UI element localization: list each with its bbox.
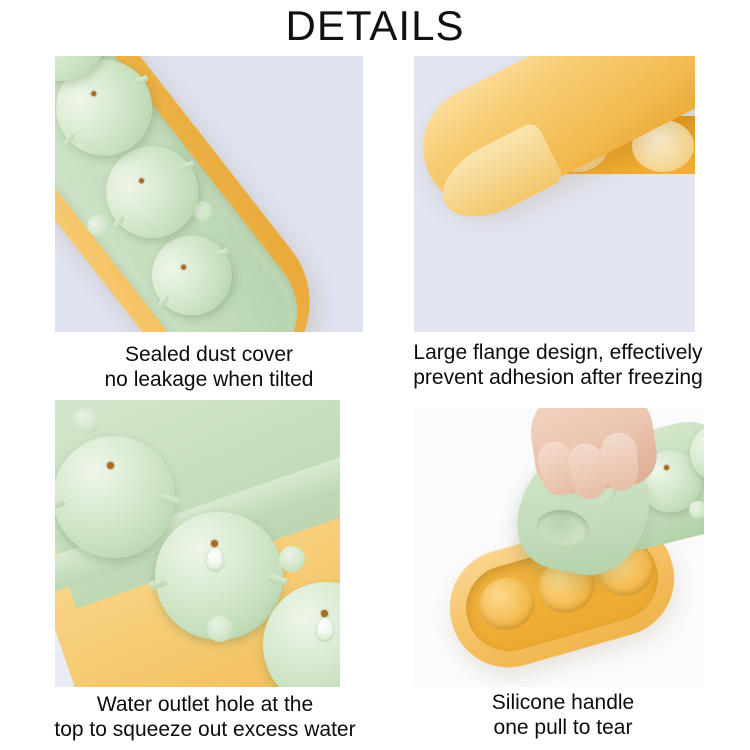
caption-water-outlet-hole: Water outlet hole at the top to squeeze … — [20, 692, 390, 742]
water-outlet-hole-icon — [107, 462, 114, 469]
thumb — [600, 431, 640, 491]
ice-tray-yellow-body — [55, 56, 344, 332]
caption-line: Large flange design, effectively — [378, 340, 738, 365]
caption-line: prevent adhesion after freezing — [378, 365, 738, 390]
detail-cell-sealed-dust-cover — [55, 56, 363, 332]
product-photo-silicone-handle — [414, 408, 704, 687]
page-title: DETAILS — [0, 2, 750, 50]
water-outlet-hole-icon — [211, 540, 218, 547]
water-outlet-hole-icon — [321, 610, 328, 617]
water-droplet — [317, 618, 333, 640]
detail-cell-silicone-handle — [414, 408, 704, 687]
cover-nub — [207, 616, 233, 642]
detail-cell-large-flange-design — [414, 56, 695, 332]
product-photo-large-flange — [414, 56, 695, 332]
ice-ball-cavity — [473, 571, 541, 636]
product-photo-water-outlet — [55, 400, 340, 687]
caption-line: one pull to tear — [398, 715, 728, 740]
caption-line: Sealed dust cover — [34, 342, 384, 367]
handle-loop-hole — [532, 505, 594, 550]
caption-sealed-dust-cover: Sealed dust cover no leakage when tilted — [34, 342, 384, 392]
water-outlet-hole-icon — [180, 264, 187, 271]
caption-large-flange-design: Large flange design, effectively prevent… — [378, 340, 738, 390]
cover-nub — [73, 408, 99, 434]
cover-nub — [279, 546, 305, 572]
dome-fin — [216, 248, 229, 258]
caption-silicone-handle: Silicone handle one pull to tear — [398, 690, 728, 740]
water-droplet — [207, 548, 223, 570]
dome-fin — [113, 215, 125, 229]
caption-line: no leakage when tilted — [34, 367, 384, 392]
water-outlet-hole-icon — [90, 90, 97, 97]
dome-fin — [55, 498, 66, 511]
dome-fin — [134, 75, 148, 85]
dome-fin — [158, 294, 170, 307]
caption-line: Silicone handle — [398, 690, 728, 715]
detail-cell-water-outlet-hole — [55, 400, 340, 687]
caption-line: Water outlet hole at the — [20, 692, 390, 717]
caption-line: top to squeeze out excess water — [20, 717, 390, 742]
water-outlet-hole-icon — [138, 177, 145, 184]
ice-ball-dome — [55, 436, 175, 558]
water-outlet-hole-icon — [664, 465, 670, 471]
product-photo-sealed-dust-cover — [55, 56, 363, 332]
dome-fin — [63, 132, 75, 146]
